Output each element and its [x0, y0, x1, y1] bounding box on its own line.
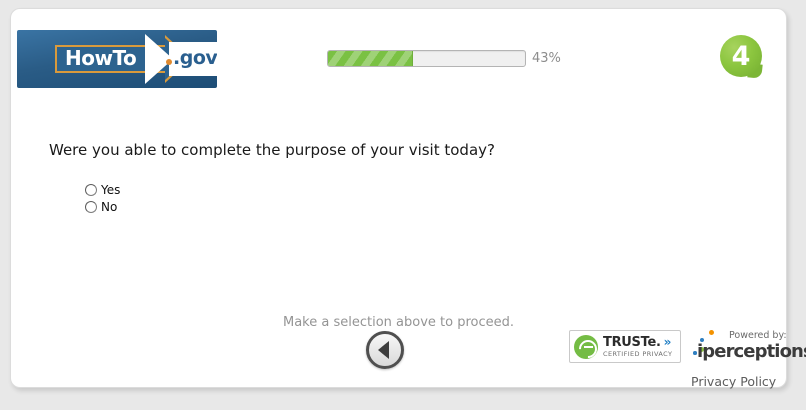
question-number-badge: 4: [720, 35, 764, 79]
logo-wordmark: HowTo: [65, 44, 136, 72]
iperceptions-logo[interactable]: Powered by: iperceptions: [693, 329, 799, 365]
question-number-label: 4: [720, 35, 762, 77]
selection-hint-text: Make a selection above to proceed.: [11, 315, 786, 330]
iperceptions-name-label: iperceptions: [697, 341, 806, 362]
logo-dot-orange-icon: [709, 330, 714, 335]
privacy-policy-link[interactable]: Privacy Policy: [691, 374, 776, 389]
powered-by-label: Powered by:: [729, 330, 787, 341]
radio-label-no: No: [101, 200, 117, 214]
radio-button-no[interactable]: [85, 201, 97, 213]
progress-bar-fill: [328, 51, 413, 66]
progress-percent-label: 43%: [532, 51, 561, 66]
progress-bar-track: [327, 50, 526, 67]
radio-option-no[interactable]: No: [85, 199, 120, 215]
logo-domain-mark: .gov: [173, 47, 217, 69]
answer-options-group: Yes No: [85, 182, 120, 216]
truste-subtitle-label: CERTIFIED PRIVACY: [603, 351, 672, 358]
logo-dot-lead-icon: [693, 351, 697, 355]
truste-chevron-icon: »: [664, 336, 670, 348]
survey-panel: HowTo .gov 43% 4 Were you able to comple…: [10, 8, 787, 388]
progress-indicator: 43%: [327, 50, 561, 67]
back-arrow-icon: [378, 341, 389, 359]
truste-text: TRUSTe. » CERTIFIED PRIVACY: [603, 336, 672, 358]
radio-option-yes[interactable]: Yes: [85, 182, 120, 198]
radio-button-yes[interactable]: [85, 184, 97, 196]
truste-badge[interactable]: TRUSTe. » CERTIFIED PRIVACY: [569, 330, 681, 363]
radio-label-yes: Yes: [101, 183, 120, 197]
back-button[interactable]: [366, 331, 404, 369]
truste-logo-icon: [574, 335, 598, 359]
truste-name-label: TRUSTe.: [603, 336, 661, 349]
howto-gov-logo: HowTo .gov: [17, 30, 217, 88]
logo-dot-icon: [166, 59, 172, 65]
question-text: Were you able to complete the purpose of…: [49, 141, 495, 159]
